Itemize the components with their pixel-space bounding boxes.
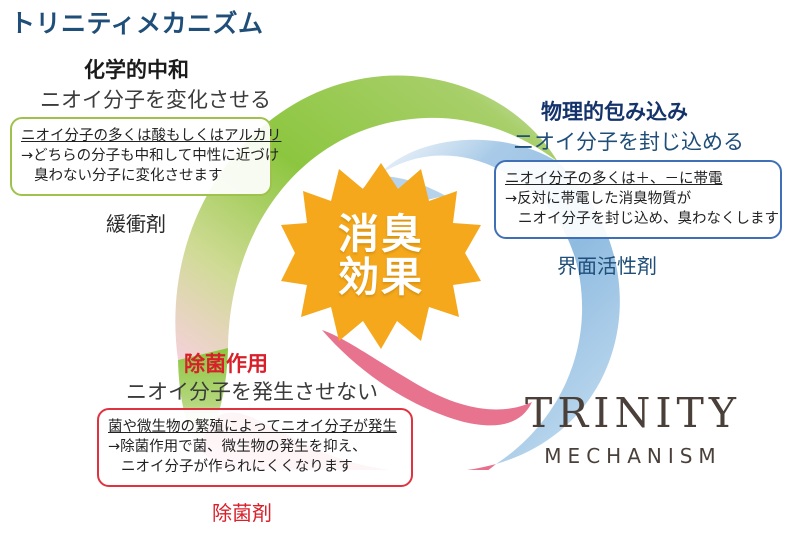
section-subtitle-antibacterial: ニオイ分子を発生させない	[126, 376, 378, 406]
callout-box-physical: ニオイ分子の多くは＋、－に帯電 →反対に帯電した消臭物質が ニオイ分子を封じ込め…	[494, 160, 782, 239]
section-subtitle-physical: ニオイ分子を封じ込める	[513, 126, 744, 156]
callout-box-chemical: ニオイ分子の多くは酸もしくはアルカリ →どちらの分子も中和して中性に近づけ 臭わ…	[10, 117, 272, 196]
callout-line: ニオイ分子の多くは＋、－に帯電	[505, 169, 771, 189]
callout-line: ニオイ分子が作られにくくなります	[108, 457, 402, 477]
agent-label-antibacterial: 除菌剤	[212, 497, 272, 526]
callout-line: 菌や微生物の繁殖によってニオイ分子が発生	[108, 417, 402, 437]
section-subtitle-chemical: ニオイ分子を変化させる	[40, 84, 271, 114]
agent-label-chemical: 緩衝剤	[106, 208, 166, 237]
callout-line: ニオイ分子を封じ込め、臭わなくします	[505, 209, 771, 229]
callout-line: →反対に帯電した消臭物質が	[505, 189, 771, 209]
section-title-antibacterial: 除菌作用	[184, 348, 268, 378]
brand-name: TRINITY	[490, 392, 776, 435]
starburst-shape	[281, 163, 481, 349]
callout-line: →どちらの分子も中和して中性に近づけ	[21, 146, 261, 166]
brand-logo: TRINITY MECHANISM	[490, 392, 776, 468]
agent-label-physical: 界面活性剤	[557, 250, 657, 279]
callout-box-antibacterial: 菌や微生物の繁殖によってニオイ分子が発生 →除菌作用で菌、微生物の発生を抑え、 …	[97, 408, 413, 487]
callout-line: 臭わない分子に変化させます	[21, 166, 261, 186]
callout-line: →除菌作用で菌、微生物の発生を抑え、	[108, 437, 402, 457]
callout-line: ニオイ分子の多くは酸もしくはアルカリ	[21, 126, 261, 146]
center-burst-badge: 消臭 効果	[281, 161, 481, 351]
section-title-chemical: 化学的中和	[84, 54, 189, 84]
brand-tagline: MECHANISM	[490, 444, 776, 468]
infographic-canvas: トリニティメカニズム	[0, 0, 800, 533]
section-title-physical: 物理的包み込み	[541, 96, 688, 126]
starburst-icon	[281, 161, 481, 351]
